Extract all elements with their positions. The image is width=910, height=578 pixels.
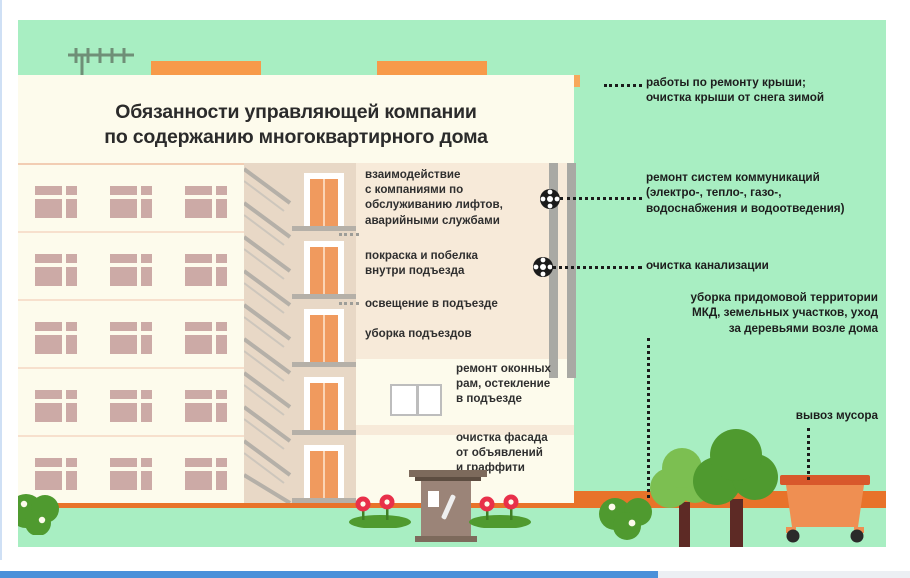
- window-row: [18, 457, 244, 491]
- window: [185, 186, 227, 218]
- elevator-door-icon: [304, 377, 344, 431]
- horizontal-scrollbar-thumb[interactable]: [0, 571, 658, 578]
- elevator-door-icon: [304, 241, 344, 295]
- annotation-garbage: вывоз мусора: [718, 408, 878, 423]
- roof-block-right: [377, 61, 487, 75]
- staircase-icon: [244, 163, 294, 503]
- page-title: Обязанности управляющей компании по соде…: [18, 87, 574, 163]
- interior-label-facade: очистка фасада от объявлений и граффити: [456, 430, 574, 476]
- window: [110, 322, 152, 354]
- stairwell-shaft: [244, 163, 356, 503]
- window: [35, 254, 77, 286]
- elevator-level: [292, 231, 356, 299]
- elevator-level: [292, 435, 356, 503]
- tv-antenna-icon: [60, 46, 142, 78]
- window: [110, 186, 152, 218]
- leader-line: [339, 302, 359, 305]
- annotation-roof: работы по ремонту крыши; очистка крыши о…: [646, 75, 884, 106]
- leader-line: [560, 197, 642, 200]
- window: [110, 390, 152, 422]
- window: [110, 254, 152, 286]
- interior-label-windows: ремонт оконных рам, остекление в подъезд…: [456, 361, 574, 407]
- elevator-door-icon: [304, 309, 344, 363]
- elevator-level: [292, 367, 356, 435]
- leader-line: [339, 233, 359, 236]
- flowerbed-icon: [348, 494, 412, 528]
- leader-line: [604, 84, 642, 87]
- window-row: [18, 389, 244, 423]
- interior-label-cleaning: уборка подъездов: [365, 326, 550, 341]
- screenshot-root: Обязанности управляющей компании по соде…: [0, 0, 910, 578]
- horizontal-scrollbar-track[interactable]: [0, 571, 910, 578]
- elevator-door-icon: [304, 173, 344, 227]
- window: [35, 458, 77, 490]
- floor-row: [18, 367, 244, 435]
- interior-label-lighting: освещение в подъезде: [365, 296, 565, 311]
- window: [185, 458, 227, 490]
- page-left-border: [0, 0, 2, 560]
- title-line-1: Обязанности управляющей компании: [115, 100, 476, 125]
- flowerbed-icon: [468, 494, 532, 528]
- window-frame-icon: [390, 384, 442, 416]
- infographic-canvas: Обязанности управляющей компании по соде…: [18, 20, 886, 547]
- window-row: [18, 321, 244, 355]
- flowering-bush-icon: [18, 487, 66, 540]
- window: [35, 322, 77, 354]
- interior-label-painting: покраска и побелка внутри подъезда: [365, 248, 550, 278]
- window: [185, 390, 227, 422]
- building-facade: [18, 163, 244, 503]
- utility-pipe: [567, 163, 576, 378]
- annotation-sewage: очистка канализации: [646, 258, 884, 273]
- elevator-level: [292, 299, 356, 367]
- floor-row: [18, 299, 244, 367]
- tree-icon: [693, 425, 783, 547]
- garbage-container-icon: [778, 475, 872, 543]
- window: [110, 458, 152, 490]
- window: [35, 186, 77, 218]
- roof-block-left: [151, 61, 261, 75]
- title-line-2: по содержанию многоквартирного дома: [104, 125, 488, 150]
- elevator-column: [292, 163, 356, 503]
- window: [185, 322, 227, 354]
- window: [35, 390, 77, 422]
- elevator-level: [292, 163, 356, 231]
- leader-line: [552, 266, 642, 269]
- window-row: [18, 253, 244, 287]
- leader-line: [647, 338, 650, 498]
- floor-row: [18, 163, 244, 231]
- window: [185, 254, 227, 286]
- annotation-yard: уборка придомовой территории МКД, земель…: [626, 290, 878, 336]
- elevator-door-icon: [304, 445, 344, 499]
- annotation-utilities: ремонт систем коммуникаций (электро-, те…: [646, 170, 884, 216]
- window-row: [18, 185, 244, 219]
- interior-label-lifts: взаимодействие с компаниями по обслужива…: [365, 167, 550, 228]
- leader-line: [807, 428, 810, 480]
- floor-row: [18, 231, 244, 299]
